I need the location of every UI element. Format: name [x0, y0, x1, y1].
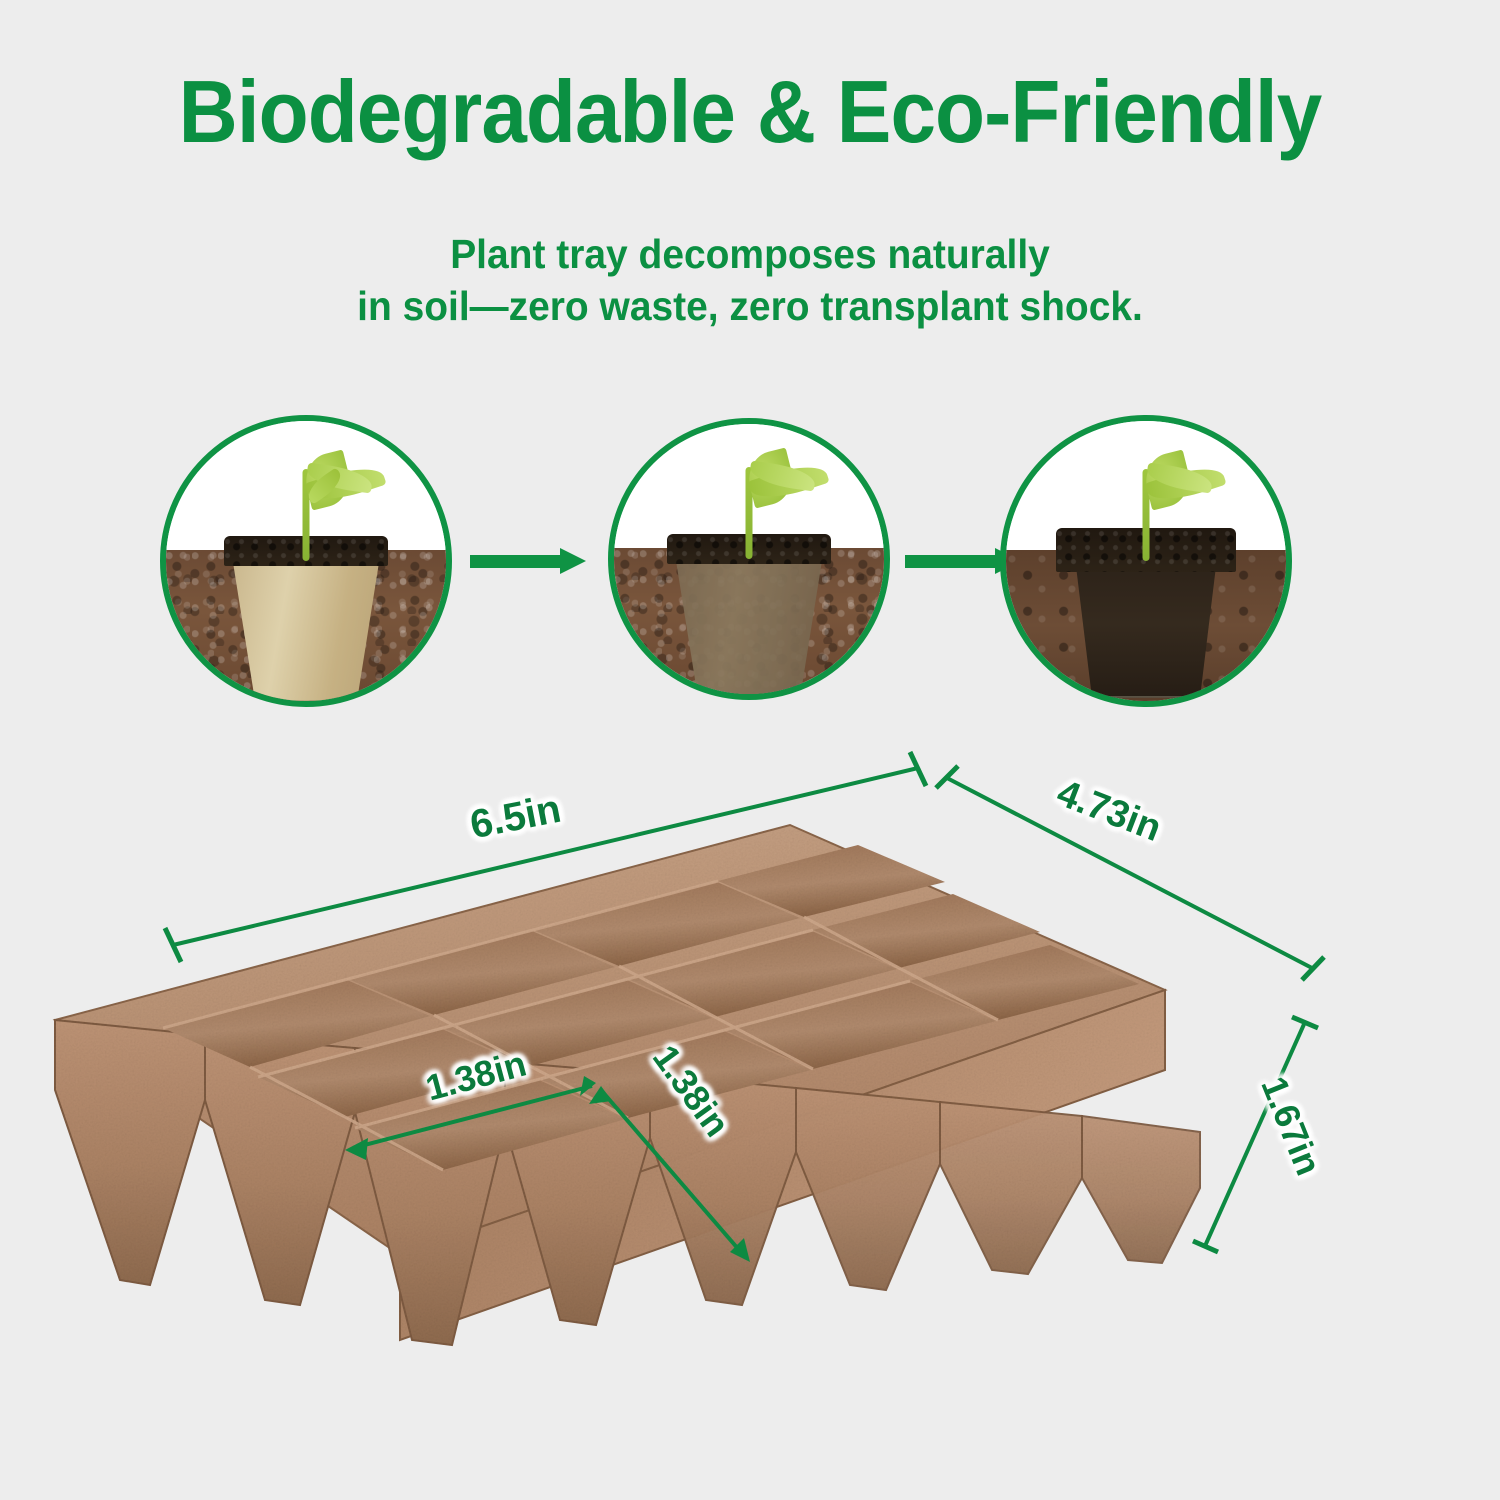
subtitle-line-2: in soil—zero waste, zero transplant shoc…: [38, 280, 1463, 332]
arrow-shaft: [905, 555, 997, 568]
seedling-stem: [1143, 469, 1150, 561]
arrow-shaft: [470, 555, 562, 568]
page-subtitle: Plant tray decomposes naturally in soil—…: [38, 228, 1463, 333]
seedling-stem: [303, 469, 310, 561]
decomposition-step-3: [1000, 415, 1292, 707]
scene-decomposing-pot: [614, 424, 884, 694]
decomposition-step-1: [160, 415, 452, 707]
arrow-head: [560, 548, 586, 574]
decomposition-step-2: [608, 418, 890, 700]
fiber-pot-decomposing-icon: [674, 548, 824, 698]
subtitle-line-1: Plant tray decomposes naturally: [38, 228, 1463, 280]
fiber-pot-icon: [231, 550, 381, 701]
arrow-step1-to-step2-icon: [470, 548, 586, 574]
infographic-canvas: Biodegradable & Eco-Friendly Plant tray …: [0, 0, 1500, 1500]
seedling-stem: [746, 467, 753, 559]
scene-intact-pot: [166, 421, 446, 701]
decomposed-soil-column-icon: [1071, 550, 1221, 698]
scene-pot-gone: [1006, 421, 1286, 701]
page-title: Biodegradable & Eco-Friendly: [53, 68, 1448, 156]
